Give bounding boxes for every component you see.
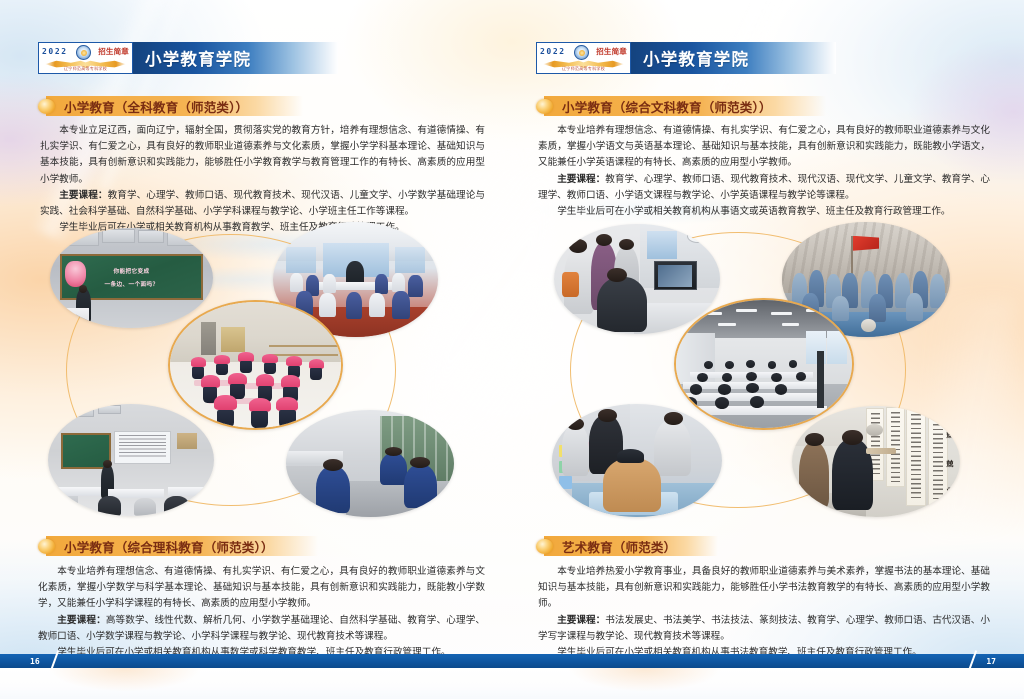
section-banner-2: 艺术教育（师范类）	[536, 536, 718, 556]
section-title: 艺术教育（师范类）	[562, 537, 676, 556]
paragraph: 本专业培养热爱小学教育事业，具备良好的教师职业道德素养与美术素养，掌握书法的基本…	[538, 564, 990, 613]
page-header-right: 2022 招生简章 辽宁师范高等专科学校 小学教育学院	[536, 42, 836, 74]
paragraph-courses: 主要课程：书法发展史、书法美学、书法技法、篆刻技法、教育学、心理学、教师口语、古…	[538, 613, 990, 645]
logo-year-label: 2022	[540, 47, 566, 56]
calligraphy-char: 兢	[946, 459, 953, 469]
paragraph: 本专业立足辽西，面向辽宁，辐射全国，贯彻落实党的教育方针，培养有理想信念、有道德…	[40, 123, 485, 188]
section-title: 小学教育（全科教育（师范类））	[64, 97, 248, 116]
logo-subtitle: 辽宁师范高等专科学校	[39, 66, 132, 72]
bullet-dot-icon	[536, 99, 553, 114]
footer-bar	[0, 654, 1024, 668]
section-title: 小学教育（综合理科教育（师范类））	[64, 537, 274, 556]
header-title-bar: 小学教育学院	[631, 42, 836, 74]
section-2-body: 本专业培养热爱小学教育事业，具备良好的教师职业道德素养与美术素养，掌握书法的基本…	[538, 564, 990, 661]
logo-year-label: 2022	[42, 47, 68, 56]
page-left: 2022 招生简章 辽宁师范高等专科学校 小学教育学院 小学教育（全科教育（师范…	[0, 0, 512, 699]
page-title: 小学教育学院	[631, 46, 749, 70]
paragraph: 本专业培养有理想信念、有道德情操、有扎实学识、有仁爱之心，具有良好的教师职业道德…	[538, 123, 990, 172]
teacher-training-classroom-photo	[48, 404, 214, 516]
photo-collage-right: 兢 兢 业	[540, 222, 1002, 517]
section-banner-1: 小学教育（全科教育（师范类））	[38, 96, 303, 116]
page-number-left: 16	[30, 657, 40, 666]
bullet-dot-icon	[536, 539, 553, 554]
computer-lab-students-photo	[286, 410, 454, 517]
header-title-bar: 小学教育学院	[133, 42, 338, 74]
admissions-logo: 2022 招生简章 辽宁师范高等专科学校	[38, 42, 133, 74]
calligraphy-char: 业	[946, 486, 953, 496]
logo-admissions-label: 招生简章	[98, 46, 129, 57]
section-1-body: 本专业立足辽西，面向辽宁，辐射全国，贯彻落实党的教育方针，培养有理想信念、有道德…	[40, 123, 485, 236]
school-emblem-icon	[574, 45, 589, 60]
page-number-right: 17	[986, 657, 996, 666]
art-workshop-table-photo	[552, 404, 722, 517]
footer-white-strip	[0, 668, 1024, 699]
bullet-dot-icon	[38, 539, 55, 554]
brochure-spread: 2022 招生简章 辽宁师范高等专科学校 小学教育学院 小学教育（全科教育（师范…	[0, 0, 1024, 699]
school-emblem-icon	[76, 45, 91, 60]
logo-subtitle: 辽宁师范高等专科学校	[537, 66, 630, 72]
bullet-dot-icon	[38, 99, 55, 114]
paragraph: 本专业培养有理想信念、有道德情操、有扎实学识、有仁爱之心，具有良好的教师职业道德…	[38, 564, 485, 613]
page-right: 2022 招生简章 辽宁师范高等专科学校 小学教育学院 小学教育（综合文科教育（…	[512, 0, 1024, 699]
calligraphy-char: 兢	[946, 430, 953, 440]
paragraph-courses: 主要课程：高等数学、线性代数、解析几何、小学数学基础理论、自然科学基础、教育学、…	[38, 613, 485, 645]
photo-collage-left: 你能把它变成 一条边、一个面吗？	[38, 222, 498, 517]
page-header-left: 2022 招生简章 辽宁师范高等专科学校 小学教育学院	[38, 42, 338, 74]
section-1-body: 本专业培养有理想信念、有道德情操、有扎实学识、有仁爱之心，具有良好的教师职业道德…	[538, 123, 990, 220]
paragraph-courses: 主要课程：教育学、心理学、教师口语、现代教育技术、现代汉语、现代文学、儿童文学、…	[538, 172, 990, 204]
logo-admissions-label: 招生简章	[596, 46, 627, 57]
calligraphy-exhibition-photo: 兢 兢 业	[792, 406, 960, 517]
page-title: 小学教育学院	[133, 46, 251, 70]
section-banner-1: 小学教育（综合文科教育（师范类））	[536, 96, 826, 116]
section-banner-2: 小学教育（综合理科教育（师范类））	[38, 536, 318, 556]
section-title: 小学教育（综合文科教育（师范类））	[562, 97, 772, 116]
paragraph-courses: 主要课程：教育学、心理学、教师口语、现代教育技术、现代汉语、儿童文学、小学数学基…	[40, 188, 485, 220]
paragraph-career: 学生毕业后可在小学或相关教育机构从事语文或英语教育教学、班主任及教育行政管理工作…	[538, 204, 990, 220]
section-2-body: 本专业培养有理想信念、有道德情操、有扎实学识、有仁爱之心，具有良好的教师职业道德…	[38, 564, 485, 661]
admissions-logo: 2022 招生简章 辽宁师范高等专科学校	[536, 42, 631, 74]
